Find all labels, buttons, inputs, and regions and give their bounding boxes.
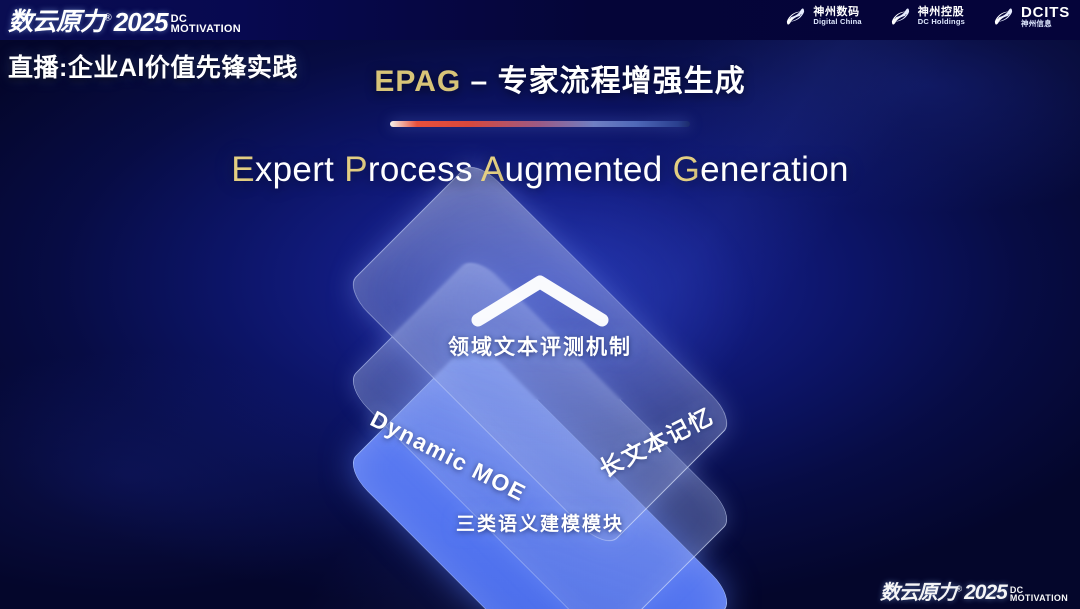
watermark-dc-line2: MOTIVATION (1010, 594, 1068, 603)
subtitle-part: rocess (368, 150, 481, 189)
title-chinese: 专家流程增强生成 (498, 65, 746, 98)
swirl-icon (991, 4, 1016, 29)
brand-dc-line2: MOTIVATION (171, 24, 241, 35)
partner-logo-group: 神州数码 Digital China 神州控股 DC Holdings DCIT… (783, 4, 1070, 29)
layer-label-long-text-memory: 长文本记忆 (592, 397, 719, 484)
registered-mark: ® (104, 12, 111, 24)
partner-logo-dc-holdings: 神州控股 DC Holdings (888, 4, 965, 29)
layer-plate-bottom (344, 337, 736, 609)
subtitle-part: E (231, 150, 255, 189)
live-session-label: 直播:企业AI价值先锋实践 (8, 48, 298, 84)
partner-logo-dcits: DCITS 神州信息 (991, 4, 1070, 29)
swirl-icon (783, 4, 808, 29)
title-acronym: EPAG (374, 65, 461, 98)
layer-plate-middle (344, 254, 736, 609)
subtitle-part: G (673, 150, 701, 189)
layer-label-top: 领域文本评测机制 (0, 331, 1080, 361)
watermark-logo-year: 2025 (964, 581, 1007, 605)
layer-label-dynamic-moe: Dynamic MOE (366, 405, 531, 507)
brand-logo: 数云原力® 2025 DC MOTIVATION (8, 2, 241, 38)
page-subtitle: Expert Process Augmented Generation (0, 150, 1080, 190)
watermark-logo-dc: DC MOTIVATION (1010, 586, 1068, 605)
chevron-up-icon (470, 272, 610, 328)
subtitle-part: eneration (700, 150, 849, 189)
title-separator: – (461, 65, 497, 98)
subtitle-part: ugmented (505, 150, 673, 189)
subtitle-part: xpert (255, 150, 344, 189)
registered-mark: ® (956, 583, 961, 593)
watermark-logo-cn: 数云原力® (880, 576, 961, 605)
partner-text: 神州控股 DC Holdings (918, 7, 965, 26)
layer-plate-top (344, 158, 736, 550)
brand-logo-dc: DC MOTIVATION (171, 14, 241, 38)
partner-text: DCITS 神州信息 (1021, 5, 1070, 28)
partner-name-en: DC Holdings (918, 18, 965, 26)
partner-logo-digital-china: 神州数码 Digital China (783, 4, 861, 29)
brand-logo-cn: 数云原力® (8, 2, 111, 38)
title-accent-bar (390, 121, 690, 127)
partner-name-en: 神州信息 (1021, 20, 1070, 28)
brand-logo-year: 2025 (114, 7, 168, 38)
slide-canvas: 数云原力® 2025 DC MOTIVATION 直播:企业AI价值先锋实践 神… (0, 0, 1080, 609)
partner-text: 神州数码 Digital China (813, 7, 861, 26)
brand-watermark: 数云原力® 2025 DC MOTIVATION (880, 576, 1068, 605)
subtitle-part: P (344, 150, 368, 189)
swirl-icon (888, 4, 913, 29)
layer-label-bottom: 三类语义建模模块 (0, 509, 1080, 536)
subtitle-part: A (481, 150, 505, 189)
partner-name-en: Digital China (813, 18, 861, 26)
